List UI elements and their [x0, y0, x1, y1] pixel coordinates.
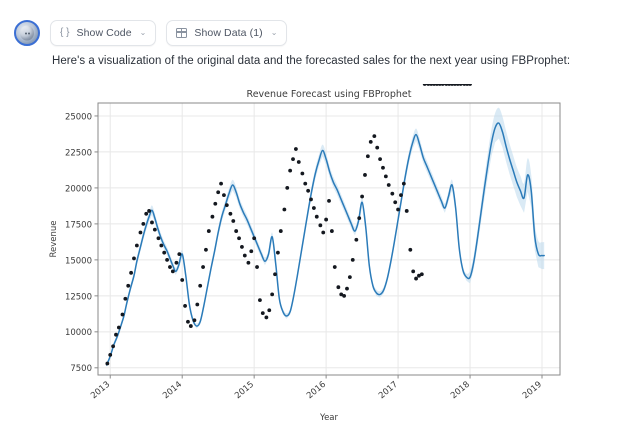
- svg-text:2017: 2017: [377, 380, 400, 402]
- svg-text:15000: 15000: [65, 256, 92, 266]
- svg-text:Year: Year: [319, 413, 339, 423]
- assistant-message-text: Here's a visualization of the original d…: [52, 55, 570, 67]
- avatar-face: [20, 26, 34, 41]
- show-data-button[interactable]: Show Data (1) ⌄: [166, 20, 287, 46]
- chart-svg: 7500100001250015000175002000022500250002…: [0, 84, 634, 436]
- svg-text:2013: 2013: [89, 380, 112, 402]
- svg-text:Revenue: Revenue: [49, 220, 59, 257]
- show-code-button[interactable]: { } Show Code ⌄: [50, 20, 156, 46]
- code-braces-icon: { }: [60, 28, 69, 38]
- assistant-avatar: [14, 20, 40, 46]
- svg-text:10000: 10000: [65, 328, 92, 338]
- show-code-label: Show Code: [76, 27, 131, 39]
- svg-text:22500: 22500: [65, 148, 92, 158]
- forecast-line: [107, 123, 545, 365]
- svg-text:2016: 2016: [305, 380, 328, 402]
- svg-text:12500: 12500: [65, 292, 92, 302]
- svg-text:2018: 2018: [449, 380, 472, 402]
- svg-text:20000: 20000: [65, 184, 92, 194]
- avatar-eye-right: [28, 33, 30, 35]
- avatar-eye-left: [25, 33, 27, 35]
- revenue-forecast-chart: 7500100001250015000175002000022500250002…: [0, 84, 634, 436]
- svg-text:2014: 2014: [161, 380, 184, 402]
- table-grid-icon: [176, 28, 187, 38]
- uncertainty-band: [107, 108, 545, 367]
- chevron-down-icon[interactable]: ⌄: [140, 29, 147, 37]
- svg-text:2015: 2015: [233, 380, 256, 402]
- response-toolbar: { } Show Code ⌄ Show Data (1) ⌄: [14, 20, 287, 46]
- svg-text:25000: 25000: [65, 112, 92, 122]
- svg-text:2019: 2019: [521, 380, 544, 402]
- svg-text:17500: 17500: [65, 220, 92, 230]
- observed-points: [105, 84, 471, 365]
- chevron-down-icon[interactable]: ⌄: [271, 29, 278, 37]
- show-data-label: Show Data (1): [194, 27, 262, 39]
- svg-text:Revenue Forecast using FBProph: Revenue Forecast using FBProphet: [247, 89, 412, 100]
- svg-text:7500: 7500: [70, 364, 92, 374]
